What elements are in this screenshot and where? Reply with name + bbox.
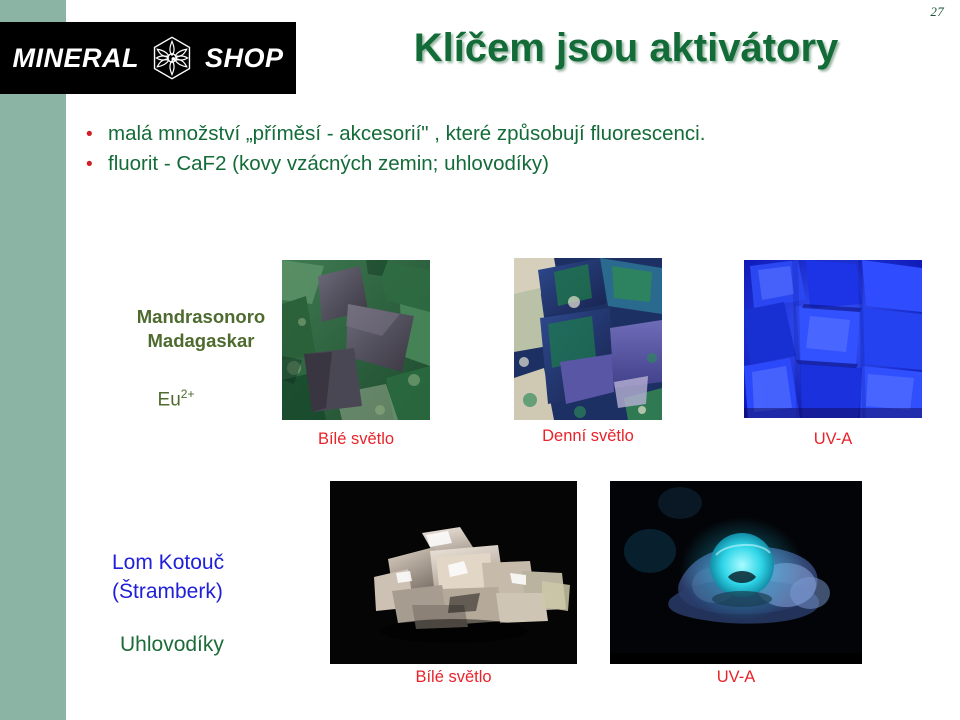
bullet-text: fluorit - CaF2 (kovy vzácných zemin; uhl… xyxy=(108,152,549,176)
locality-line-1: Lom Kotouč xyxy=(112,549,362,578)
locality-line-2: Madagaskar xyxy=(96,329,306,353)
logo-word-mineral: MINERAL xyxy=(12,43,139,74)
photo-fluorite-daylight xyxy=(514,258,662,420)
specimen-locality-fluorite: Mandrasonoro Madagaskar xyxy=(96,305,306,354)
bullet-item: • malá množství „příměsí - akcesorií" , … xyxy=(86,122,926,146)
caption-fluorite-daylight: Denní světlo xyxy=(514,427,662,446)
logo-word-shop: SHOP xyxy=(205,43,284,74)
page-title: Klíčem jsou aktivátory xyxy=(306,26,946,71)
caption-calcite-uv: UV-A xyxy=(610,668,862,687)
photo-fluorite-uv xyxy=(744,260,922,418)
hexagon-flower-crystal-icon xyxy=(149,35,195,81)
caption-fluorite-white-light: Bílé světlo xyxy=(282,430,430,449)
slide-canvas: 27 MINERAL xyxy=(0,0,960,720)
activator-label-fluorite: Eu2+ xyxy=(96,387,256,411)
photo-calcite-uv xyxy=(610,481,862,664)
activator-charge: 2+ xyxy=(181,387,195,401)
locality-line-2: (Štramberk) xyxy=(112,578,362,607)
sidebar-color-band xyxy=(0,0,66,720)
bullet-item: • fluorit - CaF2 (kovy vzácných zemin; u… xyxy=(86,152,926,176)
bullet-dot-icon: • xyxy=(86,125,108,144)
bullet-text: malá množství „příměsí - akcesorií" , kt… xyxy=(108,122,705,146)
photo-fluorite-white-light xyxy=(282,260,430,420)
mineral-shop-logo: MINERAL xyxy=(0,22,296,94)
caption-calcite-white-light: Bílé světlo xyxy=(330,668,577,687)
photo-calcite-white-light xyxy=(330,481,577,664)
specimen-locality-calcite: Lom Kotouč (Štramberk) xyxy=(112,549,362,607)
slide-number: 27 xyxy=(930,4,944,20)
locality-line-1: Mandrasonoro xyxy=(96,305,306,329)
caption-fluorite-uv: UV-A xyxy=(744,430,922,449)
activator-label-calcite: Uhlovodíky xyxy=(120,633,224,657)
activator-element: Eu xyxy=(158,389,181,410)
bullet-list: • malá množství „příměsí - akcesorií" , … xyxy=(86,122,926,182)
bullet-dot-icon: • xyxy=(86,155,108,174)
